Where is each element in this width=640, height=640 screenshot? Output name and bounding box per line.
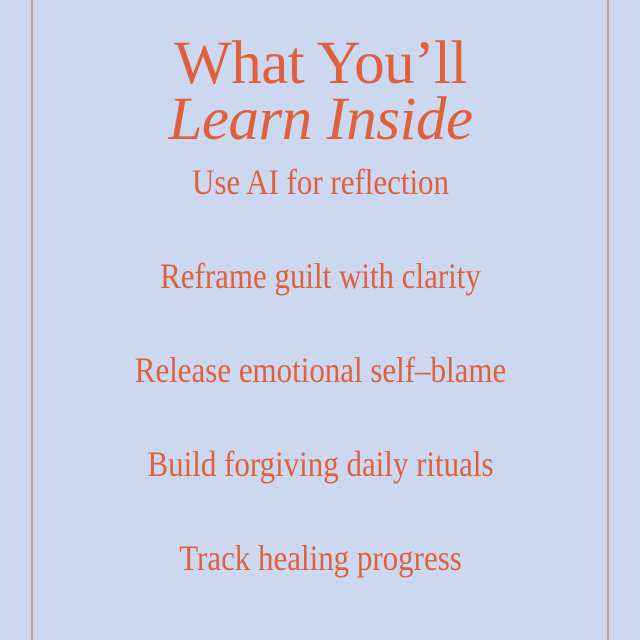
list-item: Reframe guilt with clarity [73,254,568,348]
poster-canvas: What You’ll Learn Inside Use AI for refl… [0,0,640,640]
list-item: Release emotional self–blame [73,348,568,442]
benefit-list: Use AI for reflection Reframe guilt with… [33,160,608,630]
list-item: Track healing progress [73,536,568,630]
page-title-line-2: Learn Inside [33,91,608,149]
list-item: Build forgiving daily rituals [73,442,568,536]
poster-content: What You’ll Learn Inside Use AI for refl… [33,0,608,640]
page-title-line-1: What You’ll [33,35,608,93]
page-title: What You’ll Learn Inside [33,35,608,149]
list-item: Use AI for reflection [73,160,568,254]
